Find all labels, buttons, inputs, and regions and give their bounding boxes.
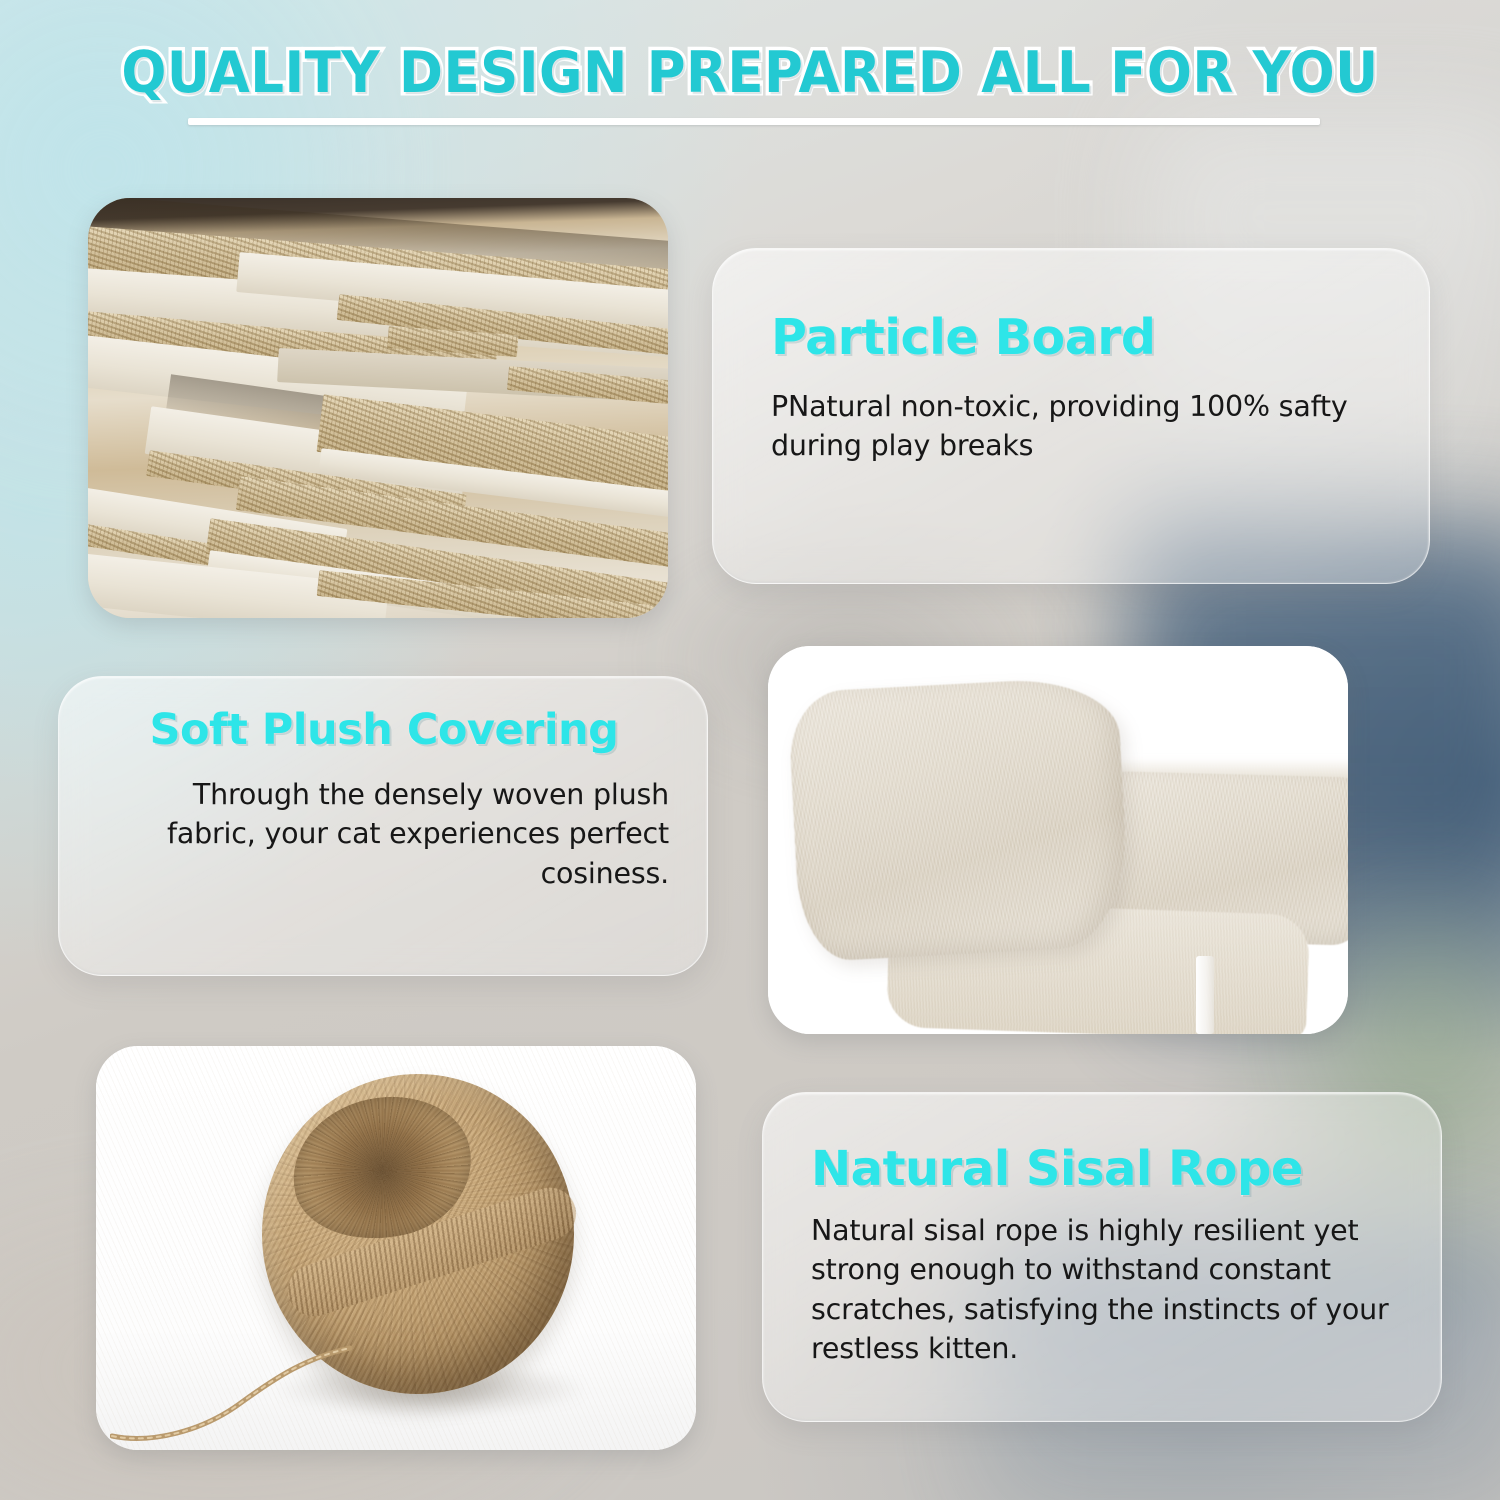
photo-particle-board [88,198,668,618]
rope-scene [96,1046,696,1450]
feature-body-soft-plush: Through the densely woven plush fabric, … [99,775,669,893]
feature-card-particle-board: Particle Board PNatural non-toxic, provi… [712,248,1430,584]
feature-heading-particle-board: Particle Board [771,309,1156,366]
feature-body-sisal-rope: Natural sisal rope is highly resilient y… [811,1211,1421,1368]
feature-heading-soft-plush: Soft Plush Covering [59,705,708,755]
feature-card-sisal-rope: Natural Sisal Rope Natural sisal rope is… [762,1092,1442,1422]
infographic-canvas: QUALITY DESIGN PREPARED ALL FOR YOU [0,0,1500,1500]
title-underline [188,118,1320,125]
plush-fold [787,676,1131,963]
photo-plush-fabric [768,646,1348,1034]
feature-body-particle-board: PNatural non-toxic, providing 100% safty… [771,387,1371,466]
photo-sisal-rope [96,1046,696,1450]
feature-card-soft-plush: Soft Plush Covering Through the densely … [58,676,708,976]
plush-post [1196,956,1214,1034]
plush-scene [768,646,1348,1034]
page-title: QUALITY DESIGN PREPARED ALL FOR YOU [121,40,1378,106]
headline-banner: QUALITY DESIGN PREPARED ALL FOR YOU [0,40,1500,106]
particle-board-scene [88,198,668,618]
feature-heading-sisal-rope: Natural Sisal Rope [811,1141,1303,1197]
